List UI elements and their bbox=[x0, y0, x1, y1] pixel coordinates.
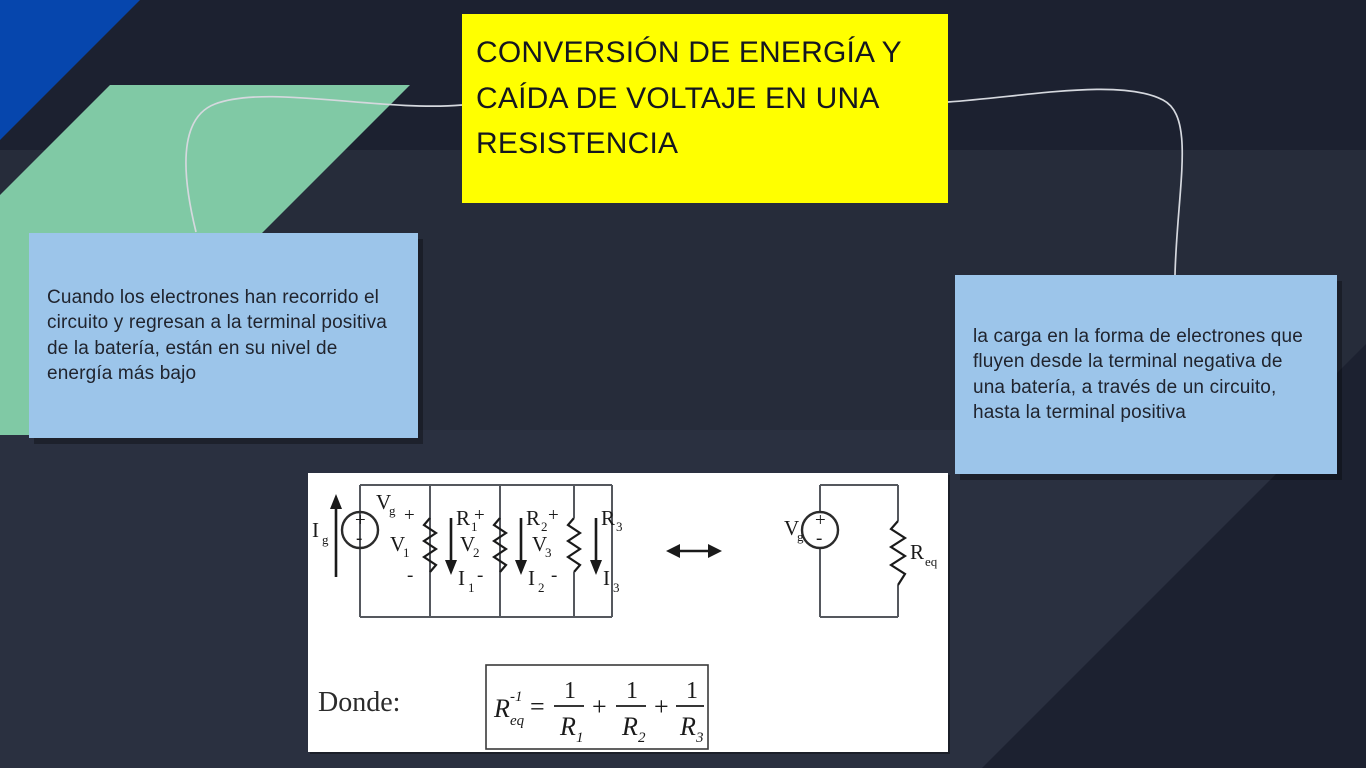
branch-1-current-label: I bbox=[458, 566, 465, 590]
source-label-vg-sub: g bbox=[389, 503, 396, 518]
formula-prefix-label: Donde: bbox=[318, 687, 400, 718]
connector-line-left bbox=[186, 97, 462, 232]
formula-plus-2: + bbox=[654, 692, 669, 721]
current-label-ig-sub: g bbox=[322, 532, 329, 547]
formula-term-1-denominator-sub: 1 bbox=[576, 730, 584, 746]
branch-2-current-sub: 2 bbox=[538, 580, 545, 595]
current-label-ig: I bbox=[312, 518, 319, 542]
branch-2-minus-sign: - bbox=[477, 565, 483, 586]
branch-1-voltage-sub: 1 bbox=[403, 545, 410, 560]
formula-term-2-numerator: 1 bbox=[626, 678, 638, 704]
connector-line-right bbox=[948, 89, 1182, 275]
branch-3-minus-sign: - bbox=[551, 565, 557, 586]
circuit-diagram-panel: + - V g I g + - V 1 R 1 bbox=[308, 473, 948, 752]
branch-3-resistor-label: R bbox=[601, 506, 615, 530]
equivalent-circuit-group: + - V g R eq bbox=[784, 485, 938, 617]
formula-term-3-numerator: 1 bbox=[686, 678, 698, 704]
branch-2-voltage-sub: 2 bbox=[473, 545, 480, 560]
branch-3-current-sub: 3 bbox=[613, 580, 620, 595]
formula-lhs-base: R bbox=[493, 694, 510, 723]
branch-3-current-label: I bbox=[603, 566, 610, 590]
branch-2-plus-sign: + bbox=[474, 505, 485, 526]
callout-right-text: la carga en la forma de electrones que f… bbox=[955, 324, 1337, 425]
callout-box-left: Cuando los electrones han recorrido el c… bbox=[29, 233, 418, 438]
formula-lhs-sub: eq bbox=[510, 713, 525, 729]
branch-1-resistor-label: R bbox=[456, 506, 470, 530]
branch-2-current-label: I bbox=[528, 566, 535, 590]
eq-resistor-sub: eq bbox=[925, 554, 938, 569]
formula-term-1-numerator: 1 bbox=[564, 678, 576, 704]
branch-r3: + - V 3 R 3 I 3 bbox=[532, 485, 623, 617]
eq-source-label-vg-sub: g bbox=[797, 529, 804, 544]
slide-title-box: CONVERSIÓN DE ENERGÍA Y CAÍDA DE VOLTAJE… bbox=[462, 14, 948, 203]
formula-plus-1: + bbox=[592, 692, 607, 721]
formula-equals-sign: = bbox=[530, 692, 545, 721]
formula-term-2-denominator-sub: 2 bbox=[638, 730, 646, 746]
formula-term-3-denominator: R bbox=[679, 712, 696, 741]
formula-lhs-sup: -1 bbox=[510, 689, 523, 705]
branch-3-plus-sign: + bbox=[548, 505, 559, 526]
callout-left-text: Cuando los electrones han recorrido el c… bbox=[29, 285, 418, 386]
callout-box-right: la carga en la forma de electrones que f… bbox=[955, 275, 1337, 474]
formula-term-3-denominator-sub: 3 bbox=[695, 730, 704, 746]
current-arrow-ig: I g bbox=[312, 494, 342, 577]
branch-1-plus-sign: + bbox=[404, 505, 415, 526]
formula-term-2-denominator: R bbox=[621, 712, 638, 741]
eq-resistor-label: R bbox=[910, 540, 924, 564]
equivalence-arrow-icon bbox=[666, 544, 722, 558]
branch-1-current-sub: 1 bbox=[468, 580, 475, 595]
source-minus-sign: - bbox=[356, 528, 362, 549]
branch-3-resistor-sub: 3 bbox=[616, 519, 623, 534]
page-title: CONVERSIÓN DE ENERGÍA Y CAÍDA DE VOLTAJE… bbox=[476, 30, 934, 167]
formula-row: Donde: R eq -1 = 1 R 1 + 1 R 2 bbox=[318, 665, 708, 749]
branch-2-resistor-label: R bbox=[526, 506, 540, 530]
voltage-source-vg: + - V g bbox=[342, 490, 396, 549]
eq-source-minus-sign: - bbox=[816, 528, 822, 549]
branch-3-voltage-sub: 3 bbox=[545, 545, 552, 560]
circuit-diagram-svg: + - V g I g + - V 1 R 1 bbox=[308, 473, 948, 752]
slide-canvas: CONVERSIÓN DE ENERGÍA Y CAÍDA DE VOLTAJE… bbox=[0, 0, 1366, 768]
formula-term-1-denominator: R bbox=[559, 712, 576, 741]
branch-1-minus-sign: - bbox=[407, 565, 413, 586]
